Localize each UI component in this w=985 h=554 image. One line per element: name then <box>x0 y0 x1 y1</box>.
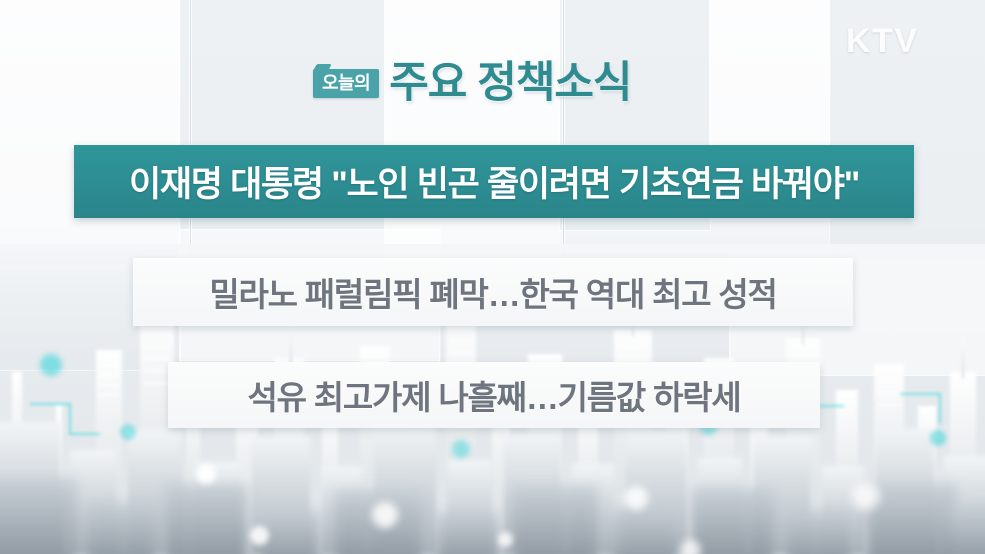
ktv-channel-logo: KTV <box>846 22 919 61</box>
broadcast-graphic-stage: KTV 오늘의 주요 정책소식 이재명 대통령 "노인 빈곤 줄이려면 기초연금… <box>0 0 985 554</box>
bg-panel <box>385 0 560 280</box>
headline-bar-primary[interactable]: 이재명 대통령 "노인 빈곤 줄이려면 기초연금 바꿔야" <box>74 145 914 218</box>
headline-text: 이재명 대통령 "노인 빈곤 줄이려면 기초연금 바꿔야" <box>129 156 859 207</box>
headline-text: 밀라노 패럴림픽 폐막…한국 역대 최고 성적 <box>209 268 776 316</box>
headline-bar-second[interactable]: 밀라노 패럴림픽 폐막…한국 역대 최고 성적 <box>133 258 853 326</box>
headline-bar-third[interactable]: 석유 최고가제 나흘째…기름값 하락세 <box>168 362 820 428</box>
program-title: 주요 정책소식 <box>389 62 631 105</box>
bg-panel-edge <box>190 0 191 280</box>
program-tag-badge: 오늘의 <box>313 69 379 98</box>
bg-panel-edge <box>563 0 564 270</box>
headline-text: 석유 최고가제 나흘째…기름값 하락세 <box>247 371 740 419</box>
bg-panel <box>0 0 180 270</box>
program-title-block: 오늘의 주요 정책소식 <box>313 62 632 105</box>
